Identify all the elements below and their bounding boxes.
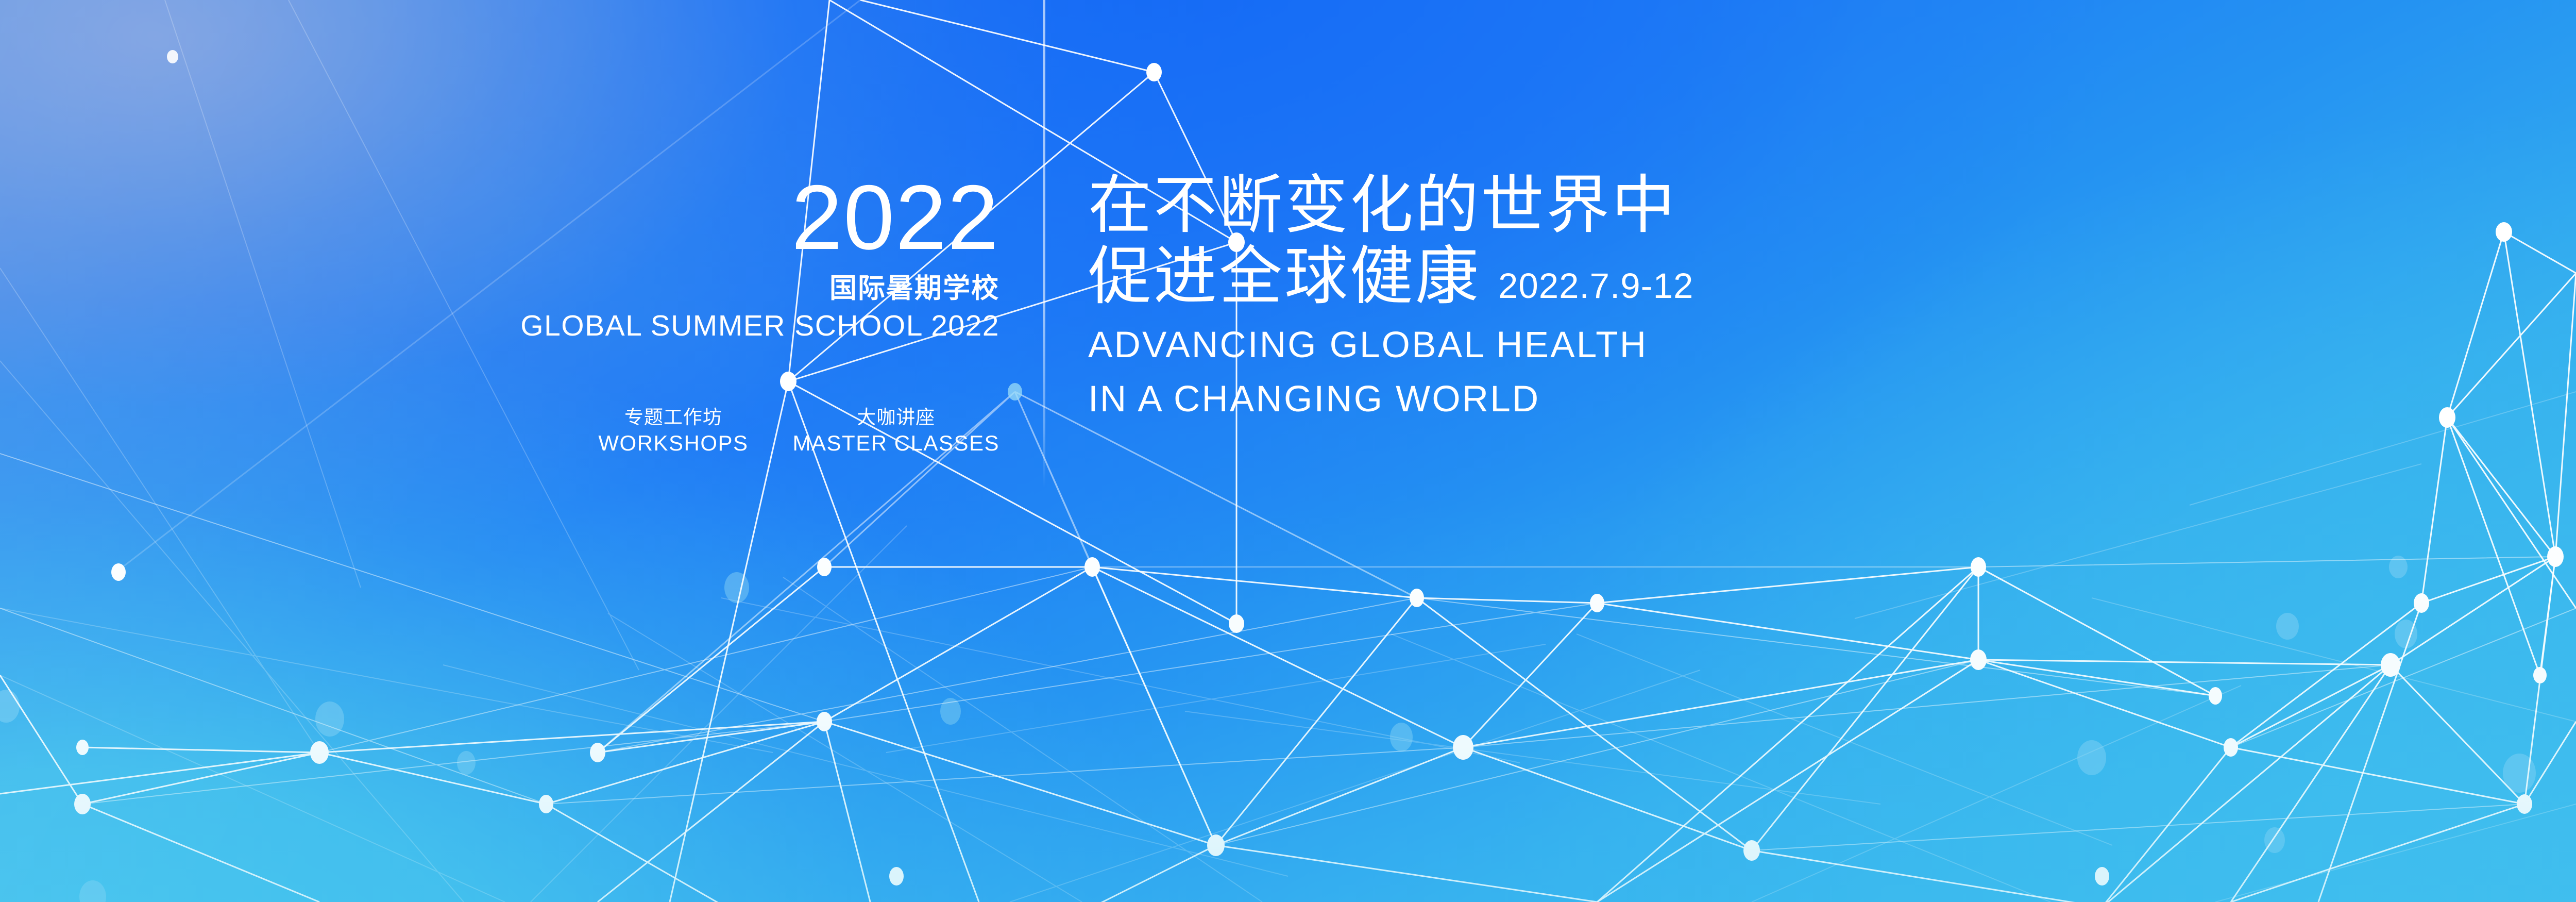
theme-block: 在不断变化的世界中 促进全球健康 2022.7.9-12 ADVANCING G… [1088, 170, 2170, 421]
tagline-en-line-1: ADVANCING GLOBAL HEALTH [1088, 324, 2170, 367]
event-date: 2022.7.9-12 [1498, 268, 1693, 304]
track-label-en: MASTER CLASSES [793, 429, 999, 458]
track-item-master-classes: 大咖讲座 MASTER CLASSES [793, 406, 999, 458]
track-label-en: WORKSHOPS [598, 429, 748, 458]
school-name-en: GLOBAL SUMMER SCHOOL 2022 [464, 309, 999, 343]
headline-cn-line-1: 在不断变化的世界中 [1088, 170, 2170, 241]
track-list: 专题工作坊 WORKSHOPS 大咖讲座 MASTER CLASSES [464, 406, 999, 458]
year-heading: 2022 [464, 175, 999, 260]
headline-date-row: 促进全球健康 2022.7.9-12 [1088, 241, 2170, 312]
headline-cn-line-2: 促进全球健康 [1088, 241, 1481, 312]
tagline-en-line-2: IN A CHANGING WORLD [1088, 378, 2170, 421]
background-gradient [0, 0, 2576, 902]
event-banner: 2022 国际暑期学校 GLOBAL SUMMER SCHOOL 2022 专题… [0, 0, 2576, 902]
vertical-divider [1043, 0, 1045, 487]
school-name-cn: 国际暑期学校 [464, 272, 999, 305]
track-label-cn: 专题工作坊 [598, 406, 748, 429]
school-identity-block: 2022 国际暑期学校 GLOBAL SUMMER SCHOOL 2022 专题… [464, 175, 999, 457]
track-item-workshops: 专题工作坊 WORKSHOPS [598, 406, 748, 458]
track-label-cn: 大咖讲座 [793, 406, 999, 429]
